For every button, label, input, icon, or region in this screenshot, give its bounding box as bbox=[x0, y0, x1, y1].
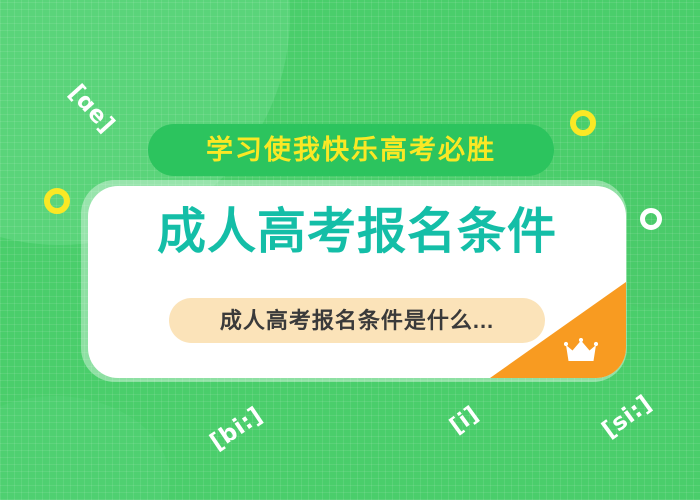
banner-text: 学习使我快乐高考必胜 bbox=[206, 137, 496, 164]
phonetic-i: [i] bbox=[445, 402, 483, 439]
phonetic-bi: [bi:] bbox=[206, 402, 268, 455]
ring-white-right bbox=[640, 208, 662, 230]
banner-pill: 学习使我快乐高考必胜 bbox=[148, 124, 554, 176]
subtitle-pill: 成人高考报名条件是什么... bbox=[169, 298, 545, 343]
ring-yellow-left bbox=[44, 188, 70, 214]
crown-icon bbox=[564, 338, 598, 364]
phonetic-si: [si:] bbox=[598, 391, 657, 444]
subtitle-text: 成人高考报名条件是什么... bbox=[220, 310, 494, 332]
poster-canvas: [ɑe] [bi:] [i] [si:] 学习使我快乐高考必胜 成人高考报名条件… bbox=[0, 0, 700, 500]
background-blob-bottom-left bbox=[0, 396, 170, 500]
page-title: 成人高考报名条件 bbox=[88, 208, 626, 257]
main-card: 成人高考报名条件 成人高考报名条件是什么... bbox=[88, 186, 626, 378]
ring-yellow-top bbox=[570, 110, 596, 136]
